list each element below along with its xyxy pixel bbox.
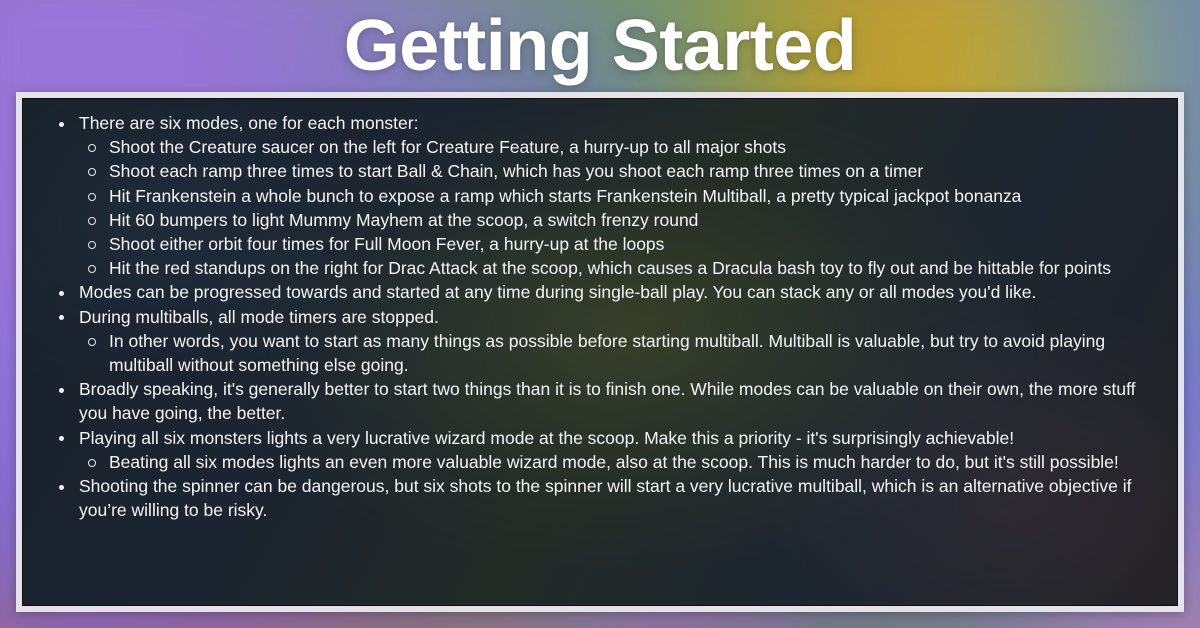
list-item: Playing all six monsters lights a very l… — [45, 426, 1159, 474]
sub-list-item-text: In other words, you want to start as man… — [109, 329, 1159, 377]
sub-list-item: In other words, you want to start as man… — [79, 329, 1159, 377]
list-item: There are six modes, one for each monste… — [45, 111, 1159, 280]
sub-list-item: Shoot the Creature saucer on the left fo… — [79, 135, 1159, 159]
list-item: Broadly speaking, it's generally better … — [45, 377, 1159, 425]
list-item-text: There are six modes, one for each monste… — [79, 111, 1159, 135]
slide: Getting Started There are six modes, one… — [0, 0, 1200, 628]
sub-list-item-text: Shoot the Creature saucer on the left fo… — [109, 135, 1159, 159]
sub-list-item: Beating all six modes lights an even mor… — [79, 450, 1159, 474]
content-panel-frame: There are six modes, one for each monste… — [16, 92, 1184, 612]
list-item: Modes can be progressed towards and star… — [45, 280, 1159, 304]
bullet-list-level1: There are six modes, one for each monste… — [45, 111, 1159, 522]
list-item-text: During multiballs, all mode timers are s… — [79, 305, 1159, 329]
sub-list-item-text: Hit the red standups on the right for Dr… — [109, 256, 1159, 280]
sub-list-item-text: Beating all six modes lights an even mor… — [109, 450, 1159, 474]
list-item: Shooting the spinner can be dangerous, b… — [45, 474, 1159, 522]
sub-list-item-text: Shoot each ramp three times to start Bal… — [109, 159, 1159, 183]
bullet-list-level2: Beating all six modes lights an even mor… — [79, 450, 1159, 474]
sub-list-item: Hit 60 bumpers to light Mummy Mayhem at … — [79, 208, 1159, 232]
page-title: Getting Started — [344, 10, 857, 82]
sub-list-item: Hit the red standups on the right for Dr… — [79, 256, 1159, 280]
sub-list-item: Hit Frankenstein a whole bunch to expose… — [79, 184, 1159, 208]
sub-list-item-text: Hit 60 bumpers to light Mummy Mayhem at … — [109, 208, 1159, 232]
list-item-text: Playing all six monsters lights a very l… — [79, 426, 1159, 450]
sub-list-item: Shoot either orbit four times for Full M… — [79, 232, 1159, 256]
list-item-text: Modes can be progressed towards and star… — [79, 280, 1159, 304]
bullet-list-level2: Shoot the Creature saucer on the left fo… — [79, 135, 1159, 280]
content-panel: There are six modes, one for each monste… — [22, 98, 1178, 606]
sub-list-item-text: Shoot either orbit four times for Full M… — [109, 232, 1159, 256]
sub-list-item: Shoot each ramp three times to start Bal… — [79, 159, 1159, 183]
list-item-text: Shooting the spinner can be dangerous, b… — [79, 474, 1159, 522]
title-bar: Getting Started — [0, 0, 1200, 92]
bullet-list-level2: In other words, you want to start as man… — [79, 329, 1159, 377]
list-item-text: Broadly speaking, it's generally better … — [79, 377, 1159, 425]
list-item: During multiballs, all mode timers are s… — [45, 305, 1159, 378]
sub-list-item-text: Hit Frankenstein a whole bunch to expose… — [109, 184, 1159, 208]
